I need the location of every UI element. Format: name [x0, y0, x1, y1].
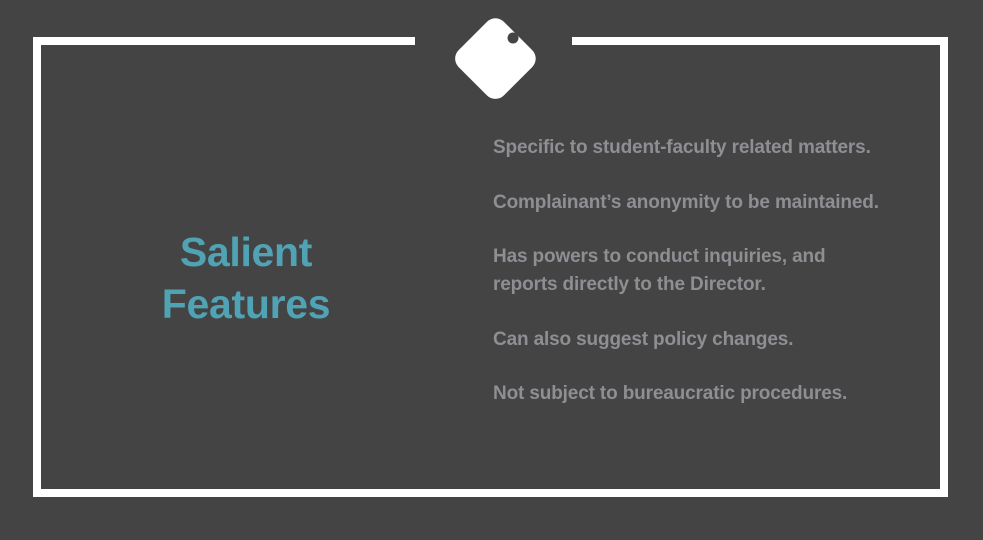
frame-border-left [33, 37, 41, 497]
frame-border-right [940, 37, 948, 497]
list-item: Complainant’s anonymity to be maintained… [493, 189, 893, 217]
page-title-line-1: Salient [41, 226, 451, 278]
list-item: Not subject to bureaucratic procedures. [493, 380, 893, 408]
page-title: Salient Features [41, 226, 451, 331]
bullet-list: Specific to student-faculty related matt… [471, 126, 940, 408]
title-column: Salient Features [41, 204, 471, 331]
slide-root: { "slide": { "background_color": "#44444… [0, 0, 983, 540]
list-item: Specific to student-faculty related matt… [493, 134, 893, 162]
list-item: Has powers to conduct inquiries, and rep… [493, 243, 893, 298]
list-item: Can also suggest policy changes. [493, 326, 893, 354]
frame-border-bottom [33, 489, 948, 497]
page-title-line-2: Features [41, 278, 451, 330]
frame-border-top-right [572, 37, 948, 45]
slide-content: Salient Features Specific to student-fac… [41, 45, 940, 489]
frame-border-top-left [33, 37, 415, 45]
